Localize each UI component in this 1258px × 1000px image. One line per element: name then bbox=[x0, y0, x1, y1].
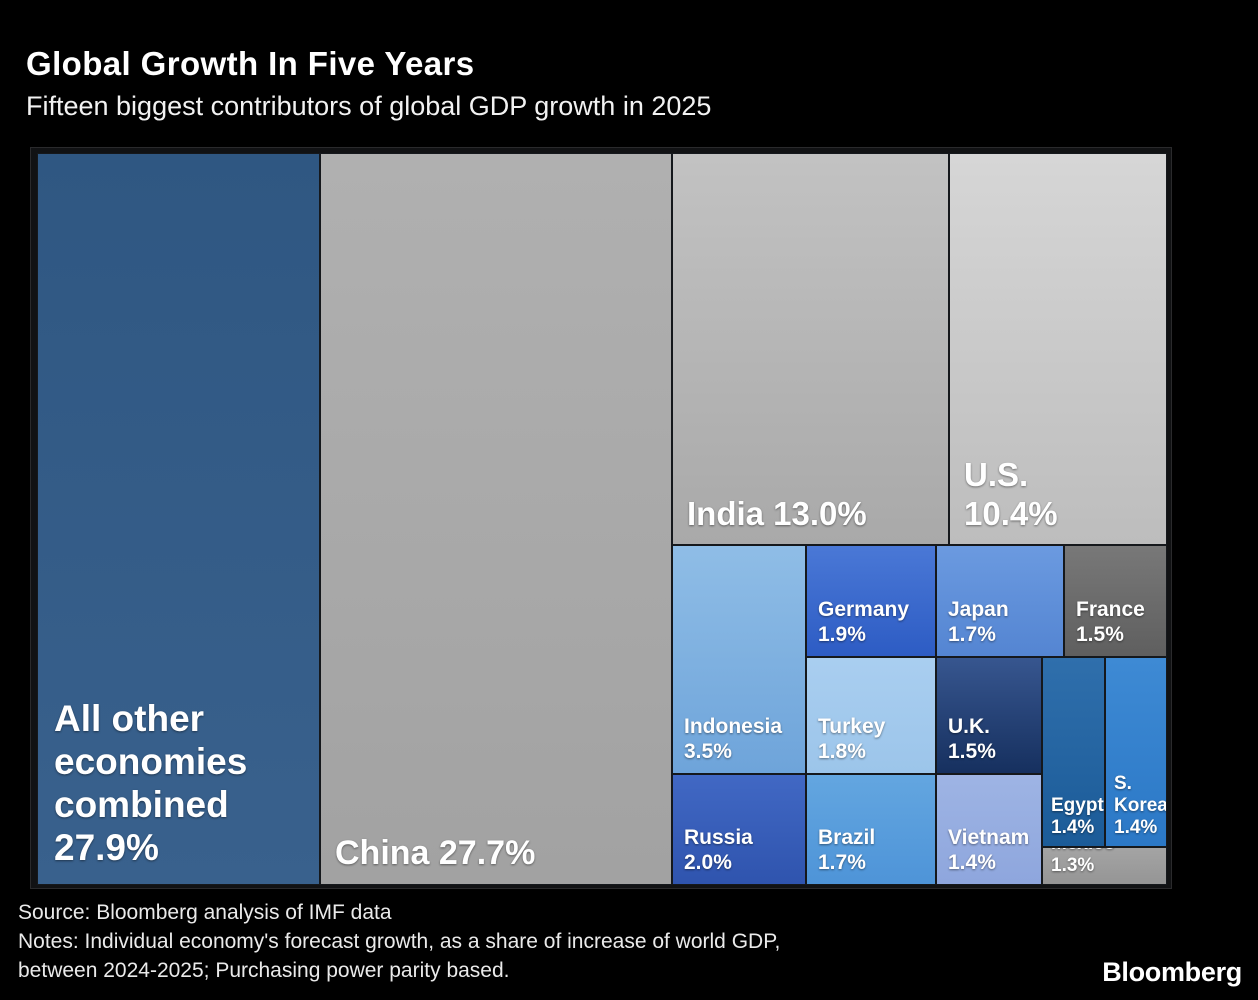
treemap-tile-uk[interactable]: U.K. 1.5% bbox=[936, 657, 1042, 774]
chart-page: Global Growth In Five Years Fifteen bigg… bbox=[0, 0, 1258, 1000]
treemap-tile-germany[interactable]: Germany 1.9% bbox=[806, 545, 936, 657]
treemap-frame: All other economies combined 27.9%China … bbox=[30, 147, 1172, 889]
notes-line-2: between 2024-2025; Purchasing power pari… bbox=[18, 956, 1118, 985]
treemap-tile-label: U.S. 10.4% bbox=[964, 456, 1161, 533]
chart-header: Global Growth In Five Years Fifteen bigg… bbox=[26, 44, 1226, 124]
treemap-tile-label: China 27.7% bbox=[335, 834, 666, 873]
treemap-tile-label: India 13.0% bbox=[687, 495, 943, 533]
treemap-tile-label: Japan 1.7% bbox=[948, 598, 1058, 647]
treemap-tile-label: Brazil 1.7% bbox=[818, 826, 930, 875]
treemap-tile-label: Germany 1.9% bbox=[818, 598, 930, 647]
treemap-tile-egypt[interactable]: Egypt 1.4% bbox=[1042, 657, 1105, 847]
treemap-tile-brazil[interactable]: Brazil 1.7% bbox=[806, 774, 936, 885]
treemap-tile-all-other-economies[interactable]: All other economies combined 27.9% bbox=[37, 153, 320, 885]
treemap-tile-japan[interactable]: Japan 1.7% bbox=[936, 545, 1064, 657]
treemap-tile-france[interactable]: France 1.5% bbox=[1064, 545, 1167, 657]
treemap-tile-label: U.K. 1.5% bbox=[948, 715, 1036, 764]
treemap-tile-russia[interactable]: Russia 2.0% bbox=[672, 774, 806, 885]
treemap-tile-turkey[interactable]: Turkey 1.8% bbox=[806, 657, 936, 774]
treemap-tile-india[interactable]: India 13.0% bbox=[672, 153, 949, 545]
chart-footer: Source: Bloomberg analysis of IMF data N… bbox=[18, 898, 1118, 985]
treemap-tile-label: Indonesia 3.5% bbox=[684, 715, 800, 764]
notes-line-1: Notes: Individual economy's forecast gro… bbox=[18, 927, 1118, 956]
treemap-tile-label: Turkey 1.8% bbox=[818, 715, 930, 764]
treemap-tile-china[interactable]: China 27.7% bbox=[320, 153, 672, 885]
page-title: Global Growth In Five Years bbox=[26, 44, 1226, 84]
source-line: Source: Bloomberg analysis of IMF data bbox=[18, 898, 1118, 927]
treemap-tile-label: Mexico 1.3% bbox=[1051, 847, 1161, 877]
treemap-chart: All other economies combined 27.9%China … bbox=[37, 153, 1167, 885]
treemap-tile-label: Vietnam 1.4% bbox=[948, 826, 1036, 875]
treemap-tile-us[interactable]: U.S. 10.4% bbox=[949, 153, 1167, 545]
treemap-tile-label: S. Korea 1.4% bbox=[1114, 773, 1161, 839]
treemap-tile-label: Egypt 1.4% bbox=[1051, 795, 1099, 839]
treemap-tile-label: All other economies combined 27.9% bbox=[54, 698, 314, 870]
treemap-tile-label: France 1.5% bbox=[1076, 598, 1161, 647]
treemap-tile-vietnam[interactable]: Vietnam 1.4% bbox=[936, 774, 1042, 885]
page-subtitle: Fifteen biggest contributors of global G… bbox=[26, 88, 1226, 124]
treemap-tile-label: Russia 2.0% bbox=[684, 826, 800, 875]
treemap-tile-mexico[interactable]: Mexico 1.3% bbox=[1042, 847, 1167, 885]
bloomberg-logo: Bloomberg bbox=[1102, 957, 1242, 988]
treemap-tile-indonesia[interactable]: Indonesia 3.5% bbox=[672, 545, 806, 774]
treemap-tile-s-korea[interactable]: S. Korea 1.4% bbox=[1105, 657, 1167, 847]
